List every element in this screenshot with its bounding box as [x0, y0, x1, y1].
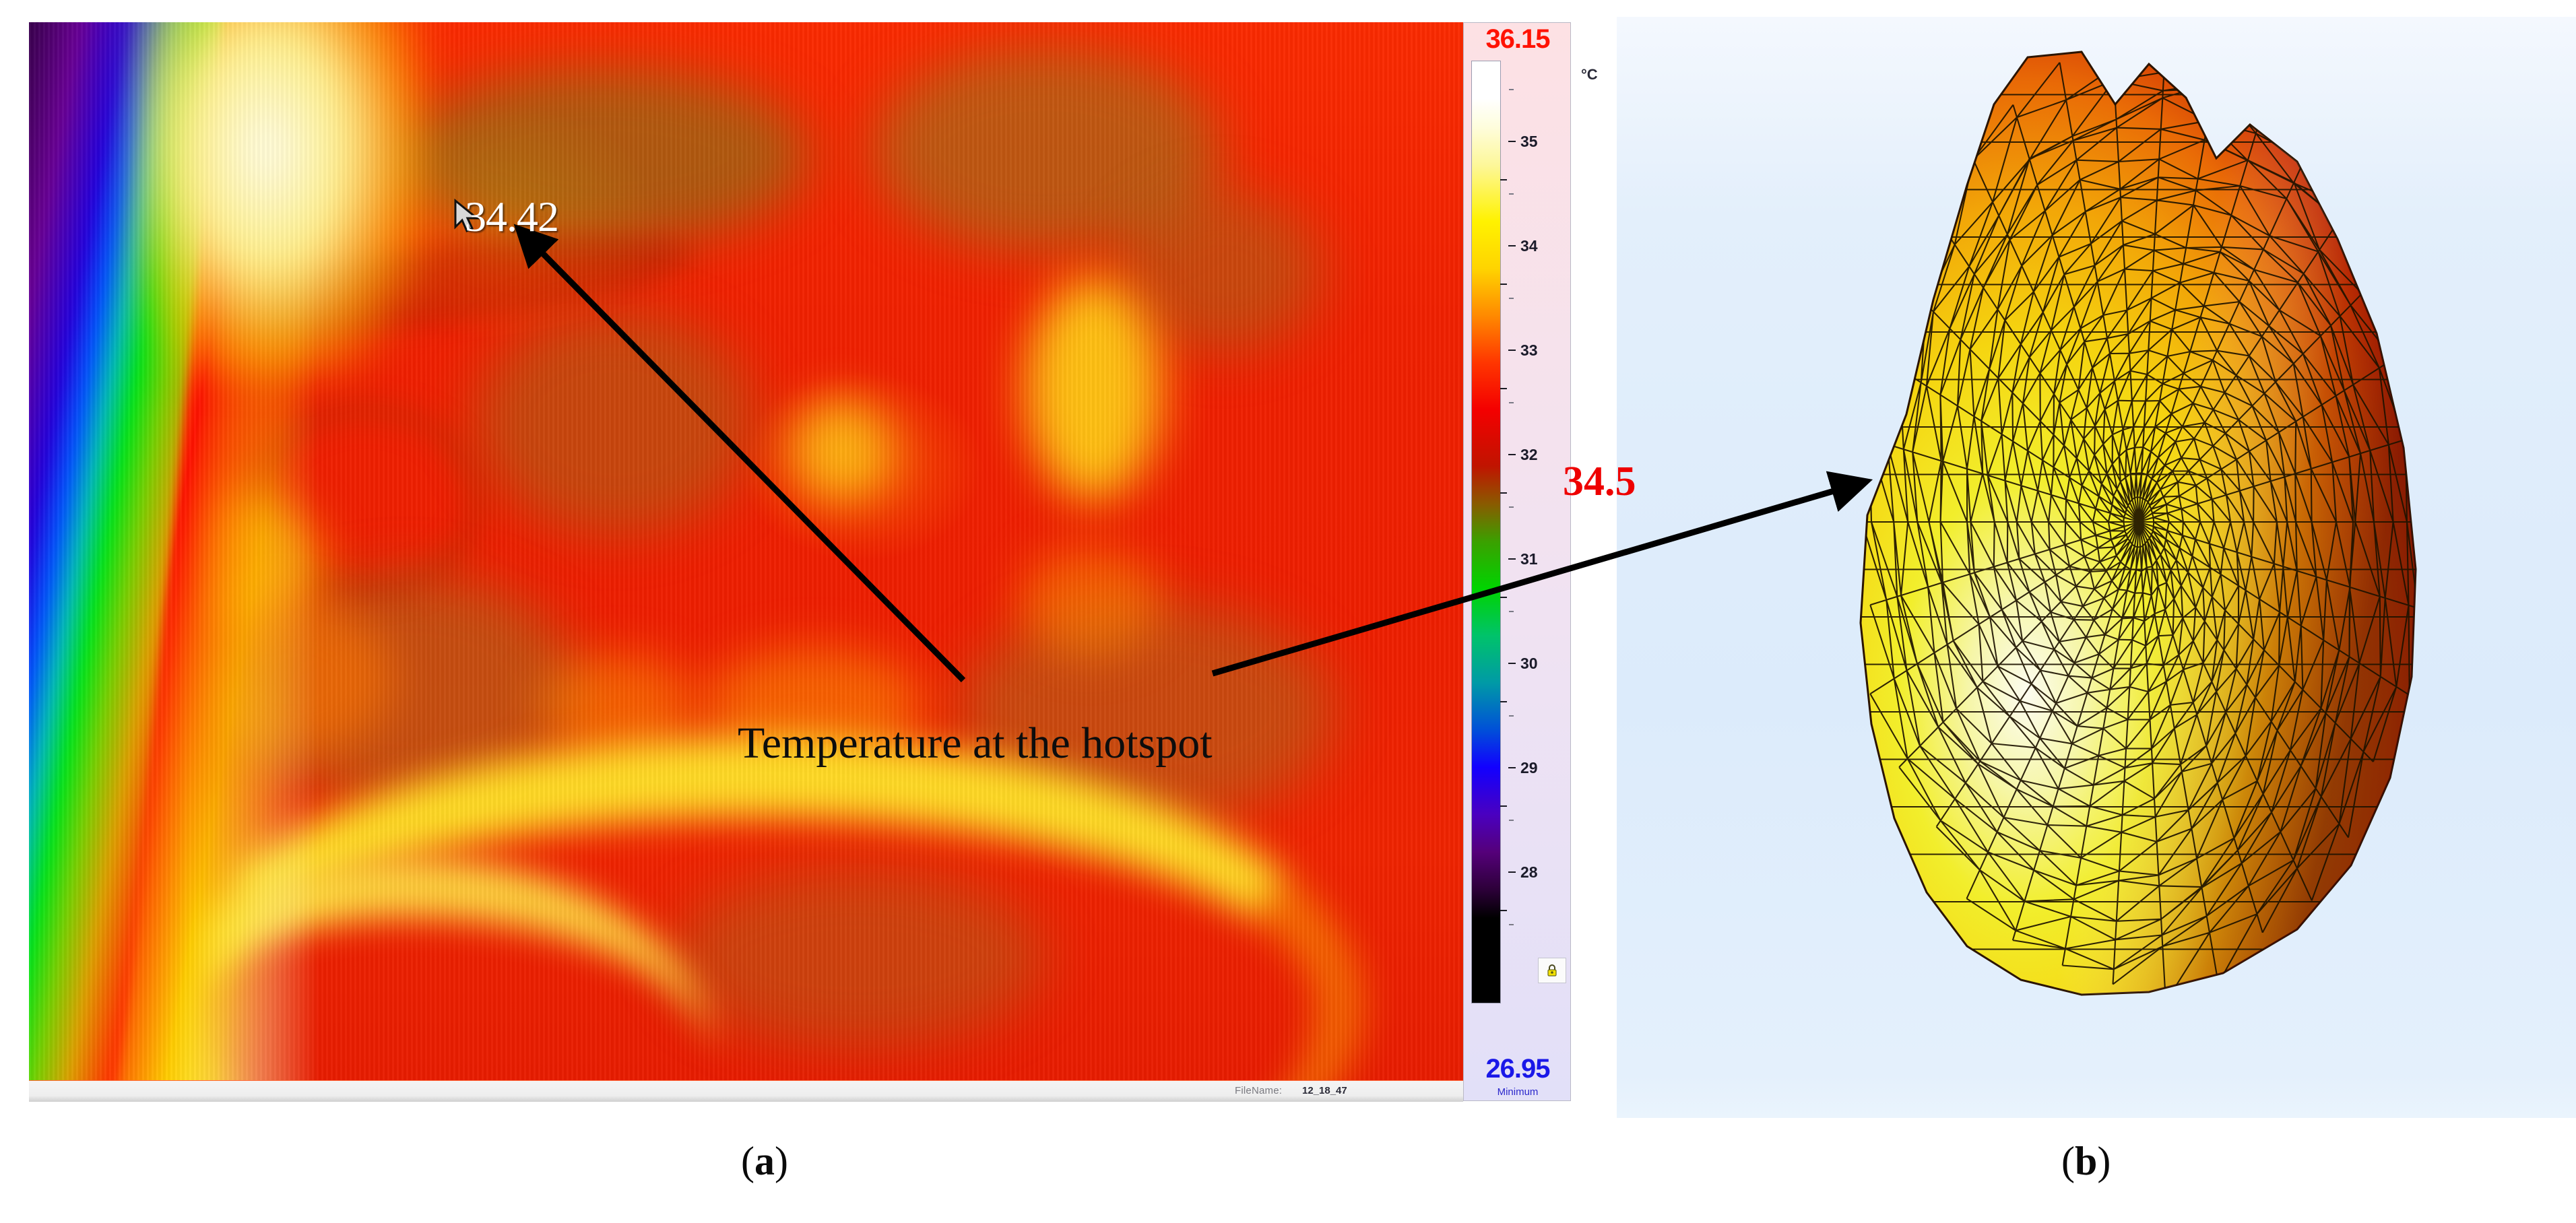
thermal-camera-window: FileName: 12_18_47: [29, 22, 1463, 1101]
colorbar-tick-mark: [1508, 350, 1516, 351]
colorbar-tick-mark: [1508, 767, 1516, 768]
colorbar-tick-mark: [1509, 611, 1514, 612]
thermal-base-field: [29, 22, 1463, 1080]
thermal-contour: [181, 213, 699, 356]
colorbar-tick-label: 28: [1520, 863, 1538, 882]
colorbar-min-value: 26.95: [1464, 1054, 1572, 1084]
figure-panel-b: [1617, 17, 2576, 1118]
thermal-hotspot: [1026, 278, 1161, 500]
thermal-infrared-image[interactable]: [29, 22, 1463, 1080]
colorbar-tick-mark: [1509, 506, 1514, 508]
colorbar-tick-mark: [1508, 663, 1516, 664]
figure-panel-a: FileName: 12_18_47 36.15 °C 353433323130…: [0, 0, 1603, 1118]
colorbar-tick-mark: [1508, 871, 1516, 873]
colorbar-tick-mark: [1500, 179, 1507, 180]
colorbar-gradient-fill: [1472, 61, 1500, 1003]
thermal-cold-edge-band: [29, 22, 223, 1080]
colorbar-tick-label: 30: [1520, 655, 1538, 673]
colorbar-tick-mark: [1509, 298, 1514, 299]
thermal-cool-region: [1120, 191, 1322, 352]
thermal-cool-region: [669, 871, 1046, 1046]
colorbar-tick-mark: [1500, 388, 1507, 389]
thermal-status-bar: FileName: 12_18_47: [29, 1080, 1463, 1102]
colorbar-tick-label: 34: [1520, 237, 1538, 255]
colorbar-tick-mark: [1500, 492, 1507, 494]
colorbar-gradient[interactable]: [1471, 61, 1501, 1003]
thermal-hot-region: [703, 649, 925, 763]
colorbar-tick-mark: [1500, 805, 1507, 807]
colorbar-tick-mark: [1500, 701, 1507, 702]
thermal-cool-region: [231, 574, 581, 803]
thermal-hot-region: [541, 655, 696, 756]
colorbar-tick-mark: [1509, 193, 1514, 195]
thermal-cold-edge-band: [29, 22, 319, 1080]
thermal-cool-region: [474, 312, 756, 534]
colorbar-tick-label: 29: [1520, 759, 1538, 777]
thermal-contour: [245, 399, 487, 601]
colorbar-tick-mark: [1509, 715, 1514, 717]
subfigure-caption-a: (a): [741, 1138, 788, 1185]
thermal-hot-region: [790, 399, 891, 500]
thermal-scanline-texture: [29, 22, 1463, 1080]
thermal-cool-region: [959, 601, 1336, 824]
filename-value: 12_18_47: [1302, 1085, 1347, 1096]
colorbar-tick-mark: [1500, 910, 1507, 911]
lock-icon[interactable]: [1538, 958, 1566, 983]
thermal-hot-region: [1019, 548, 1161, 655]
filename-label: FileName:: [1235, 1085, 1282, 1096]
thermal-cool-region: [393, 69, 810, 244]
thermal-hot-region: [147, 494, 322, 635]
colorbar-tick-mark: [1500, 597, 1507, 598]
colorbar-tick-mark: [1500, 284, 1507, 285]
thermal-bright-glow: [137, 22, 426, 379]
colorbar-tick-mark: [1508, 454, 1516, 455]
colorbar-tick-mark: [1509, 89, 1514, 90]
colorbar-scale: °C 3534333231302928: [1508, 61, 1569, 1003]
colorbar-tick-label: 35: [1520, 133, 1538, 151]
colorbar-tick-mark: [1509, 402, 1514, 403]
colorbar-max-value: 36.15: [1464, 24, 1572, 55]
thermal-cool-region: [871, 49, 1221, 251]
thermal-bright-arc: [110, 857, 716, 1080]
colorbar-tick-mark: [1508, 558, 1516, 560]
colorbar-unit-label: °C: [1581, 66, 1598, 84]
colorbar-min-label: Minimum: [1464, 1086, 1572, 1098]
colorbar-tick-mark: [1508, 245, 1516, 246]
colorbar-tick-mark: [1509, 924, 1514, 925]
colorbar-tick-mark: [1509, 820, 1514, 821]
colorbar-tick-mark: [1508, 141, 1516, 142]
thermal-bright-arc: [150, 736, 1363, 1080]
colorbar-tick-label: 31: [1520, 550, 1538, 568]
colorbar-tick-label: 33: [1520, 341, 1538, 360]
thermal-hot-region: [191, 601, 393, 756]
subfigure-caption-b: (b): [2061, 1138, 2111, 1185]
mesh-model-canvas[interactable]: [1617, 17, 2576, 1118]
colorbar-tick-label: 32: [1520, 446, 1538, 464]
temperature-colorbar-panel: 36.15 °C 3534333231302928 26.95 Minimum: [1463, 22, 1571, 1101]
